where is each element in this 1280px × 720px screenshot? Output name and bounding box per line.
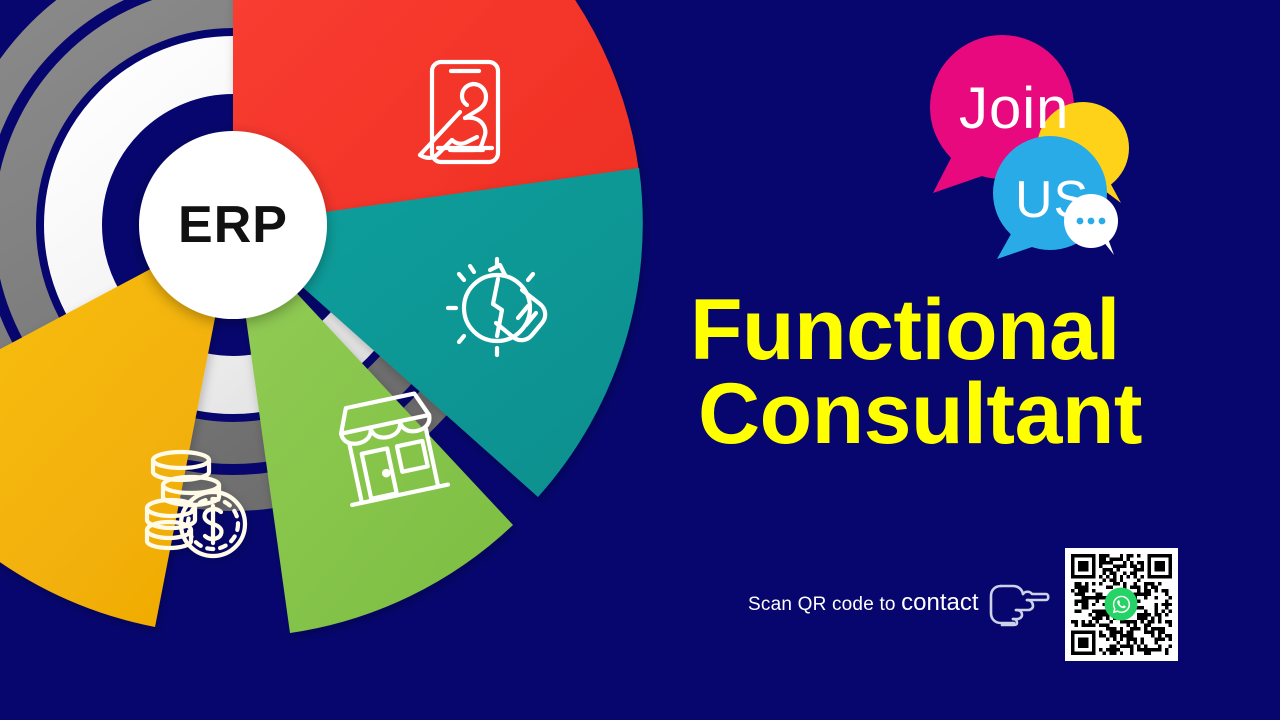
whatsapp-icon: [1105, 588, 1138, 621]
scan-qr-instruction: Scan QR code to contact: [748, 589, 979, 619]
scan-qr-prefix: Scan QR code to: [748, 594, 901, 615]
join-label: Join: [959, 76, 1069, 141]
contact-row: Scan QR code to contact: [748, 545, 1158, 663]
scan-qr-emphasis: contact: [901, 589, 978, 616]
pointing-hand-icon: [989, 581, 1051, 632]
join-us-badge[interactable]: Join US: [915, 25, 1130, 265]
title-line-1: Functional: [690, 288, 1250, 372]
slide-canvas: ERP: [0, 0, 1280, 720]
qr-code-icon[interactable]: [1065, 548, 1178, 661]
us-label: US: [1015, 171, 1089, 229]
erp-pie-infographic: ERP: [0, 0, 700, 720]
page-title: Functional Consultant: [690, 288, 1250, 457]
erp-center-badge[interactable]: ERP: [139, 131, 327, 319]
erp-center-label: ERP: [178, 196, 288, 254]
title-line-2: Consultant: [690, 372, 1250, 456]
